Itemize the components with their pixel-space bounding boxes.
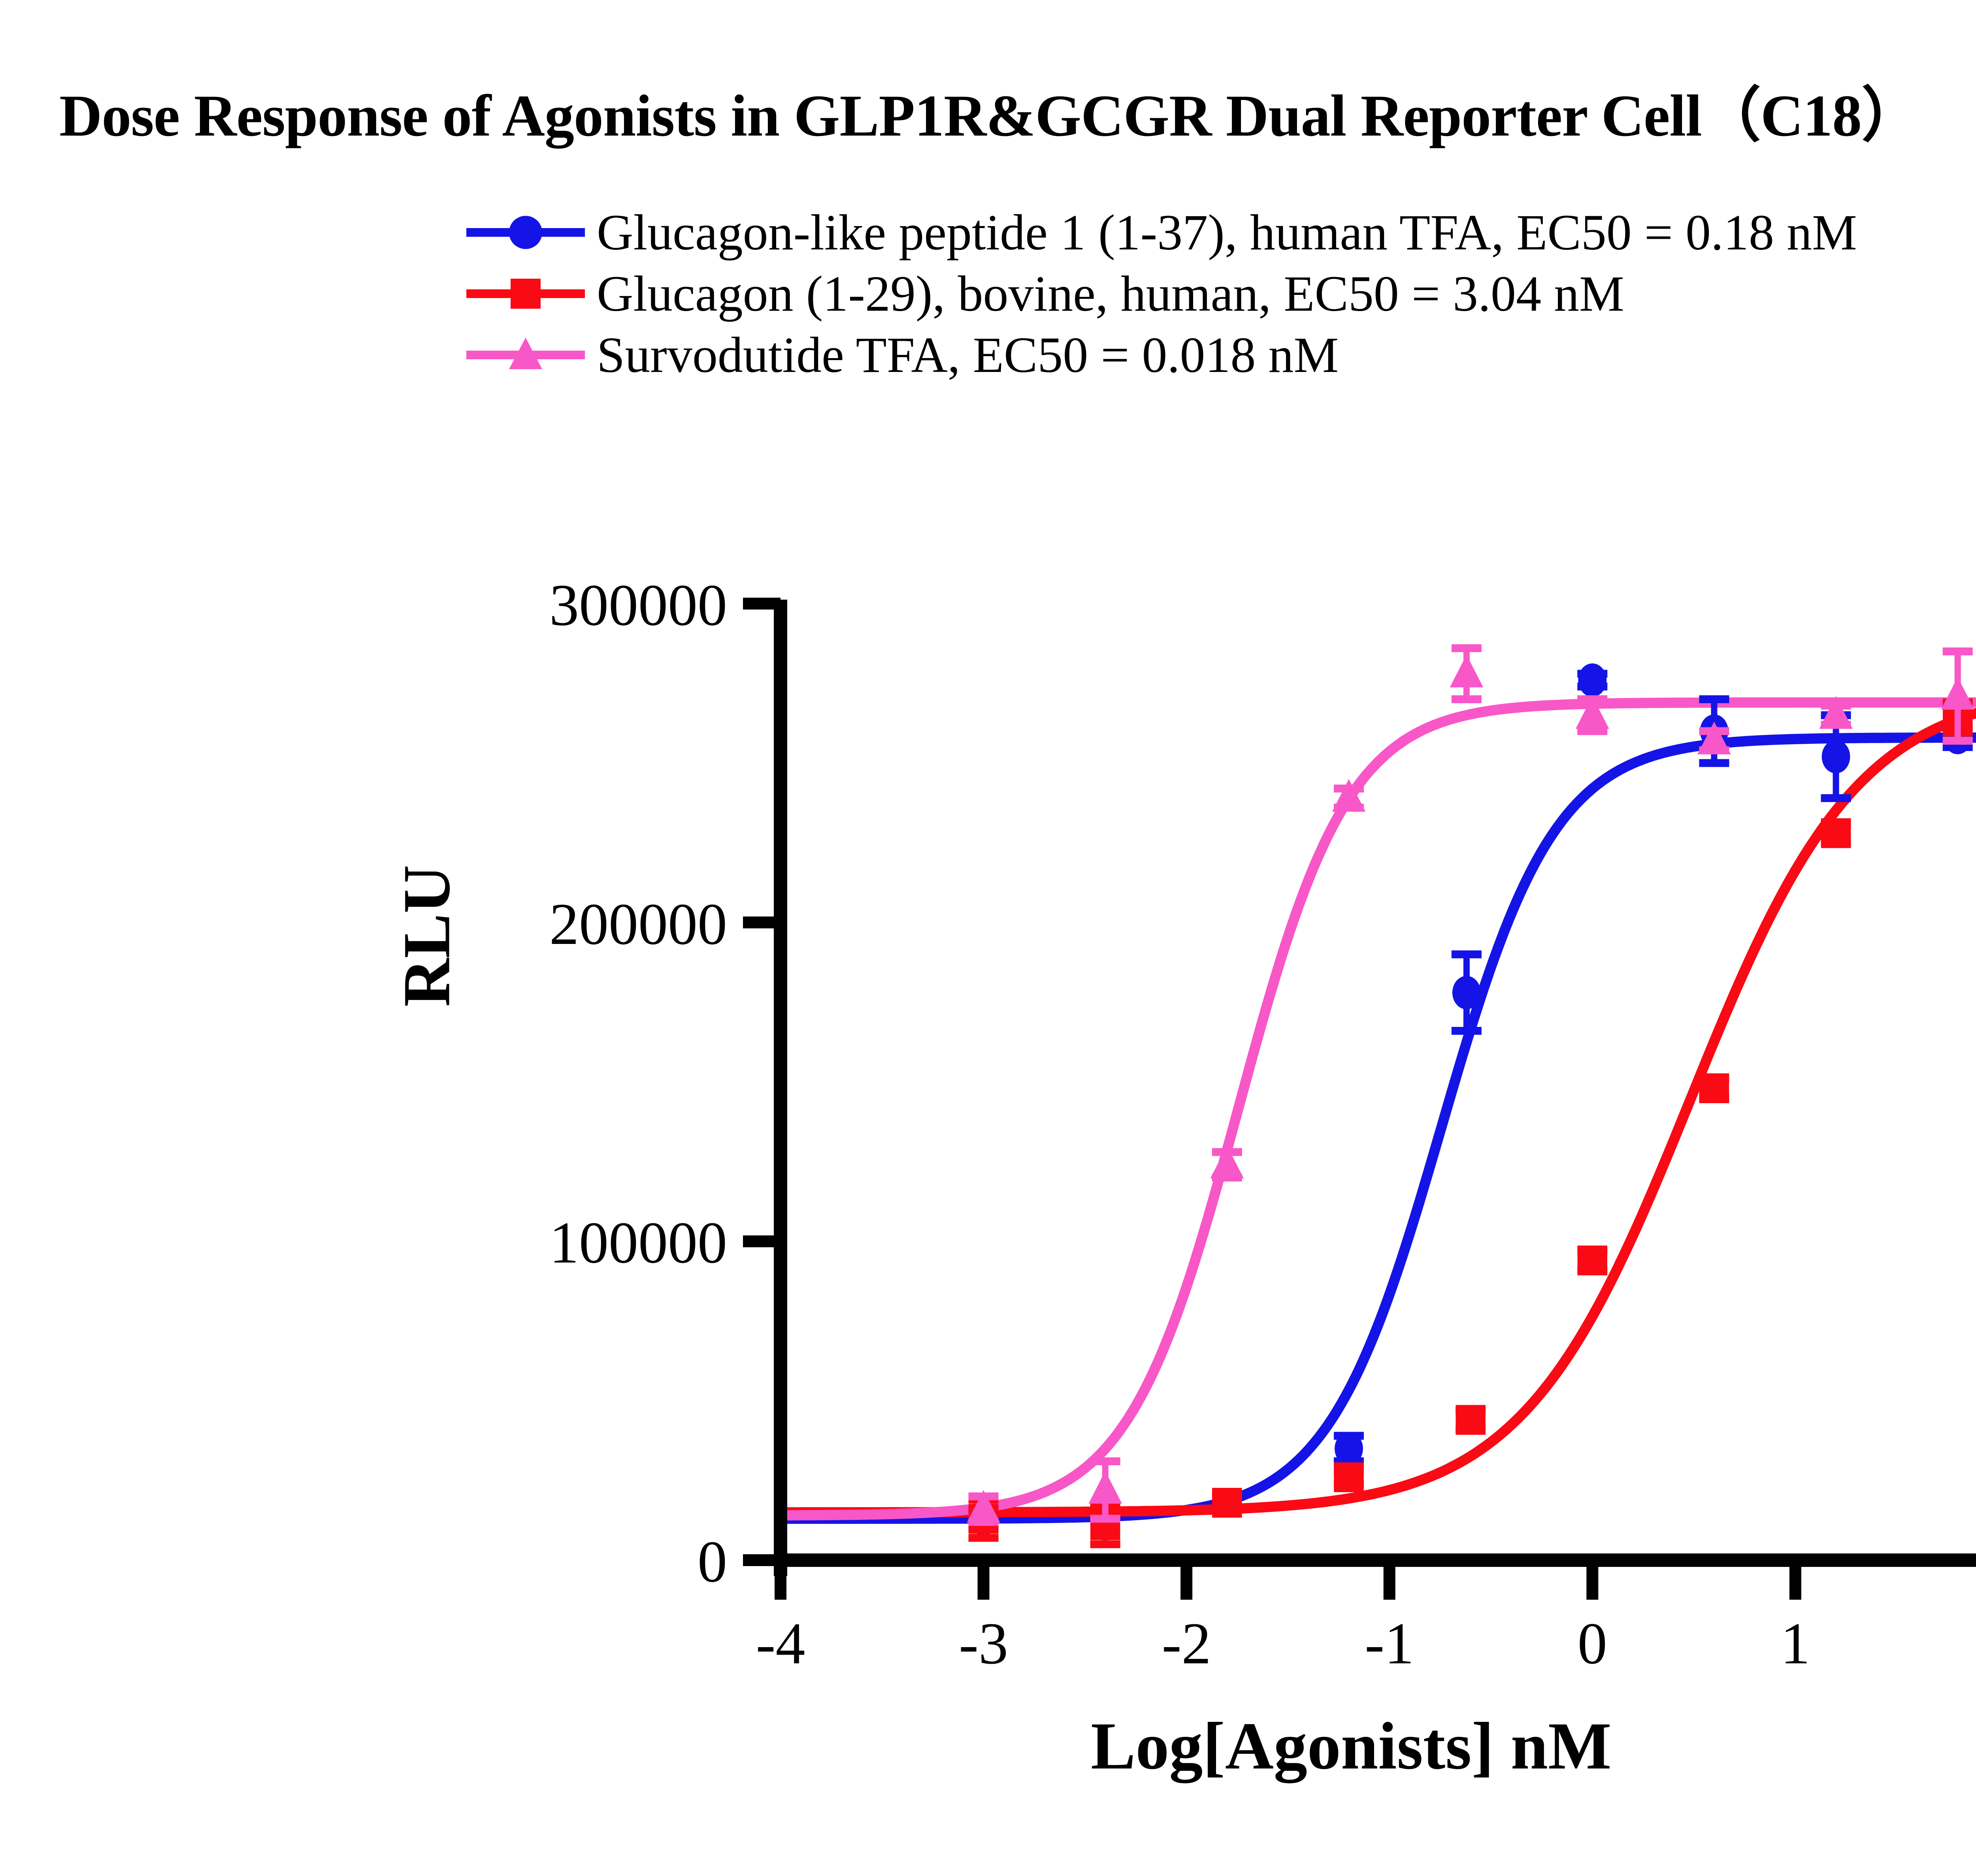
x-tick-label-2: -2 xyxy=(1127,1610,1246,1678)
y-tick-label-3: 300000 xyxy=(269,571,727,639)
marker-circle xyxy=(1335,1432,1363,1465)
y-tick-label-0: 0 xyxy=(269,1528,727,1596)
datapoint-group-1-5 xyxy=(1577,1246,1607,1275)
marker-square xyxy=(1699,1073,1729,1103)
marker-triangle xyxy=(1450,655,1484,687)
chart-page: Dose Response of Agonists in GLP1R&GCGR … xyxy=(0,0,1976,1876)
marker-square xyxy=(1334,1463,1363,1492)
datapoint-group-1-6 xyxy=(1699,1073,1729,1103)
marker-triangle xyxy=(1088,1471,1122,1504)
datapoint-group-2-5 xyxy=(1576,696,1609,731)
x-tick-label-1: -3 xyxy=(924,1610,1043,1678)
fit-curve-2 xyxy=(781,702,1976,1516)
marker-square xyxy=(1821,818,1851,848)
marker-square xyxy=(1578,1246,1607,1275)
fit-curve-0 xyxy=(781,738,1976,1519)
marker-circle xyxy=(1822,740,1850,774)
datapoint-group-2-4 xyxy=(1450,648,1484,699)
x-tick-label-5: 1 xyxy=(1736,1610,1855,1678)
datapoint-group-1-2 xyxy=(1212,1488,1242,1517)
x-tick-label-0: -4 xyxy=(721,1610,840,1678)
datapoint-group-1-4 xyxy=(1456,1405,1486,1434)
marker-circle xyxy=(1452,976,1481,1010)
marker-triangle xyxy=(1941,677,1974,710)
x-tick-label-4: 0 xyxy=(1533,1610,1652,1678)
x-tick-label-6: 2 xyxy=(1939,1610,1976,1678)
marker-square xyxy=(1212,1488,1242,1517)
y-tick-label-2: 200000 xyxy=(269,890,727,958)
datapoint-group-1-3 xyxy=(1334,1463,1364,1492)
datapoint-group-0-1 xyxy=(1334,1432,1364,1465)
datapoint-group-0-3 xyxy=(1577,663,1607,697)
y-tick-label-1: 100000 xyxy=(269,1209,727,1277)
datapoint-group-2-2 xyxy=(1210,1146,1244,1178)
fit-curve-1 xyxy=(781,689,1976,1513)
x-tick-label-3: -1 xyxy=(1330,1610,1449,1678)
marker-circle xyxy=(1578,663,1606,697)
marker-square xyxy=(1456,1405,1485,1434)
datapoint-group-1-7 xyxy=(1821,818,1851,848)
